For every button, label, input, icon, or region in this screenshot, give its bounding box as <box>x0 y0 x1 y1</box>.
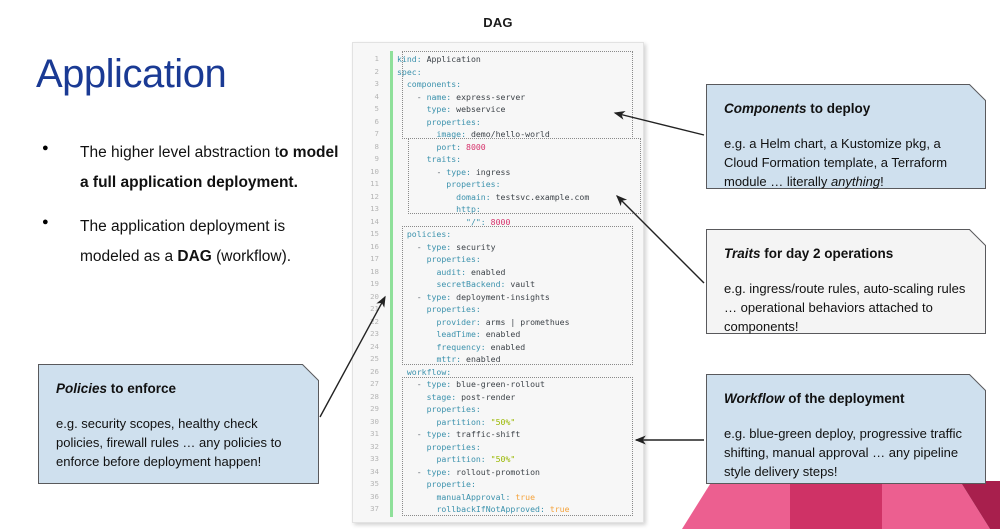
code-line: type: webservice <box>397 103 643 116</box>
code-line: traits: <box>397 153 643 166</box>
callout-policies: Policies to enforce e.g. security scopes… <box>38 364 319 484</box>
code-line: properties: <box>397 116 643 129</box>
line-number: 25 <box>353 353 385 366</box>
line-number: 6 <box>353 116 385 129</box>
line-number: 10 <box>353 166 385 179</box>
code-line: provider: arms | promethues <box>397 316 643 329</box>
yaml-code-content: kind: Applicationspec: components: - nam… <box>397 43 643 516</box>
code-line: frequency: enabled <box>397 341 643 354</box>
code-line: partition: "50%" <box>397 416 643 429</box>
code-line: partition: "50%" <box>397 453 643 466</box>
folded-corner-icon <box>969 374 986 391</box>
code-line: http: <box>397 203 643 216</box>
line-number: 18 <box>353 266 385 279</box>
bullet-list: The higher level abstraction to model a … <box>42 138 342 286</box>
code-line: properties: <box>397 403 643 416</box>
line-number: 28 <box>353 391 385 404</box>
code-line: properties: <box>397 178 643 191</box>
code-line: properties: <box>397 441 643 454</box>
line-number: 21 <box>353 303 385 316</box>
bullet-dot-icon <box>42 138 60 198</box>
callout-title: Components to deploy <box>724 99 969 118</box>
callout-traits: Traits for day 2 operations e.g. ingress… <box>706 229 986 334</box>
callout-title: Policies to enforce <box>56 379 302 398</box>
code-line: properties: <box>397 253 643 266</box>
code-line: secretBackend: vault <box>397 278 643 291</box>
dag-caption: DAG <box>0 15 1000 30</box>
callout-body: e.g. security scopes, healthy check poli… <box>56 414 302 471</box>
line-number: 35 <box>353 478 385 491</box>
line-number: 14 <box>353 216 385 229</box>
code-line: image: demo/hello-world <box>397 128 643 141</box>
code-line: stage: post-render <box>397 391 643 404</box>
bullet-text-2: The application deployment is modeled as… <box>60 212 342 272</box>
callout-title: Traits for day 2 operations <box>724 244 969 263</box>
line-number: 26 <box>353 366 385 379</box>
code-line: manualApproval: true <box>397 491 643 504</box>
line-number: 31 <box>353 428 385 441</box>
decorative-chevron-band <box>600 481 1000 529</box>
line-number: 22 <box>353 316 385 329</box>
code-line: leadTime: enabled <box>397 328 643 341</box>
code-line: domain: testsvc.example.com <box>397 191 643 204</box>
slide-canvas: DAG Application The higher level abstrac… <box>0 0 1000 529</box>
line-number: 36 <box>353 491 385 504</box>
code-line: - type: ingress <box>397 166 643 179</box>
dag-caption-text: DAG <box>483 15 513 30</box>
line-number: 4 <box>353 91 385 104</box>
callout-workflow: Workflow of the deployment e.g. blue-gre… <box>706 374 986 484</box>
code-line: - name: express-server <box>397 91 643 104</box>
code-line: policies: <box>397 228 643 241</box>
line-number: 34 <box>353 466 385 479</box>
folded-corner-icon <box>969 84 986 101</box>
line-number: 1 <box>353 53 385 66</box>
line-number: 13 <box>353 203 385 216</box>
line-number: 12 <box>353 191 385 204</box>
code-line: kind: Application <box>397 53 643 66</box>
line-number-gutter: 1234567891011121314151617181920212223242… <box>353 43 385 522</box>
line-number: 8 <box>353 141 385 154</box>
code-line: workflow: <box>397 366 643 379</box>
code-line: port: 8000 <box>397 141 643 154</box>
line-number: 33 <box>353 453 385 466</box>
line-number: 3 <box>353 78 385 91</box>
yaml-code-panel[interactable]: 1234567891011121314151617181920212223242… <box>352 42 644 523</box>
line-number: 2 <box>353 66 385 79</box>
code-line: - type: traffic-shift <box>397 428 643 441</box>
code-line: - type: deployment-insights <box>397 291 643 304</box>
line-number: 23 <box>353 328 385 341</box>
line-number: 7 <box>353 128 385 141</box>
line-number: 37 <box>353 503 385 516</box>
code-line: - type: blue-green-rollout <box>397 378 643 391</box>
code-change-bar <box>390 51 393 517</box>
folded-corner-icon <box>969 229 986 246</box>
callout-body: e.g. a Helm chart, a Kustomize pkg, a Cl… <box>724 134 969 191</box>
list-item: The application deployment is modeled as… <box>42 212 342 272</box>
list-item: The higher level abstraction to model a … <box>42 138 342 198</box>
line-number: 19 <box>353 278 385 291</box>
code-line: - type: rollout-promotion <box>397 466 643 479</box>
code-line: properties: <box>397 303 643 316</box>
callout-body: e.g. blue-green deploy, progressive traf… <box>724 424 969 481</box>
line-number: 5 <box>353 103 385 116</box>
line-number: 17 <box>353 253 385 266</box>
line-number: 20 <box>353 291 385 304</box>
bullet-text-1: The higher level abstraction to model a … <box>60 138 342 198</box>
line-number: 11 <box>353 178 385 191</box>
line-number: 9 <box>353 153 385 166</box>
code-line: components: <box>397 78 643 91</box>
line-number: 30 <box>353 416 385 429</box>
code-line: - type: security <box>397 241 643 254</box>
code-line: propertie: <box>397 478 643 491</box>
code-line: "/": 8000 <box>397 216 643 229</box>
folded-corner-icon <box>302 364 319 381</box>
callout-body: e.g. ingress/route rules, auto-scaling r… <box>724 279 969 336</box>
chevron-svg <box>600 481 1000 529</box>
line-number: 24 <box>353 341 385 354</box>
code-line: spec: <box>397 66 643 79</box>
code-line: mttr: enabled <box>397 353 643 366</box>
line-number: 16 <box>353 241 385 254</box>
bullet-dot-icon <box>42 212 60 272</box>
code-line: audit: enabled <box>397 266 643 279</box>
line-number: 32 <box>353 441 385 454</box>
page-title: Application <box>36 50 226 98</box>
line-number: 29 <box>353 403 385 416</box>
callout-title: Workflow of the deployment <box>724 389 969 408</box>
line-number: 27 <box>353 378 385 391</box>
code-line: rollbackIfNotApproved: true <box>397 503 643 516</box>
callout-components: Components to deploy e.g. a Helm chart, … <box>706 84 986 189</box>
line-number: 15 <box>353 228 385 241</box>
